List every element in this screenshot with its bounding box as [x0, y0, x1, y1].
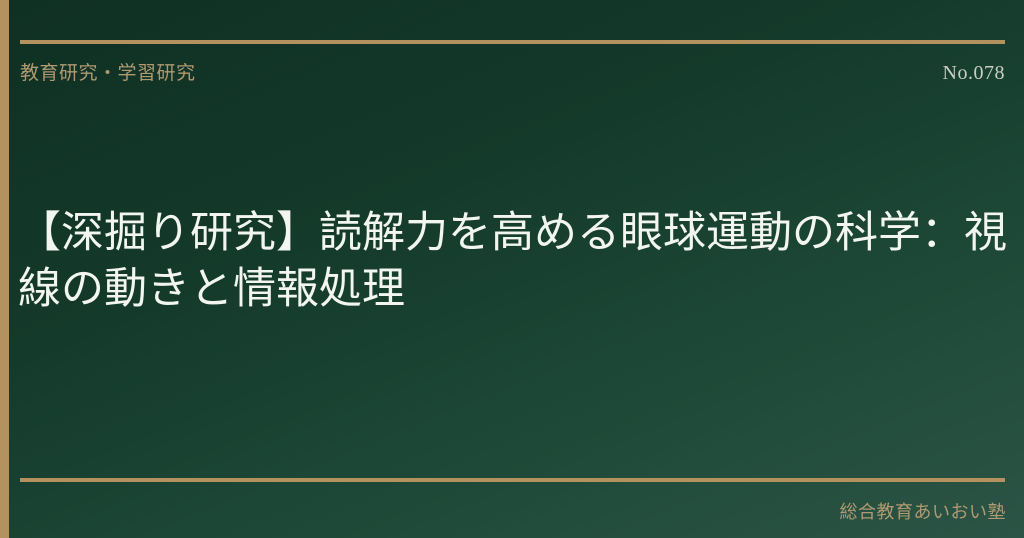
- left-accent-bar: [0, 0, 9, 538]
- title-block: 【深掘り研究】読解力を高める眼球運動の科学：視線の動きと情報処理: [18, 206, 1024, 318]
- page-title: 【深掘り研究】読解力を高める眼球運動の科学：視線の動きと情報処理: [18, 206, 1024, 318]
- category-label: 教育研究・学習研究: [20, 58, 196, 85]
- footer-divider-rule: [20, 478, 1005, 482]
- header: 教育研究・学習研究 No.078: [20, 58, 1005, 85]
- header-divider-rule: [20, 40, 1005, 44]
- brand-label: 総合教育あいおい塾: [840, 502, 1007, 523]
- title-slide: 教育研究・学習研究 No.078 【深掘り研究】読解力を高める眼球運動の科学：視…: [0, 0, 1024, 538]
- issue-number: No.078: [943, 62, 1005, 85]
- footer: 総合教育あいおい塾: [20, 498, 1006, 524]
